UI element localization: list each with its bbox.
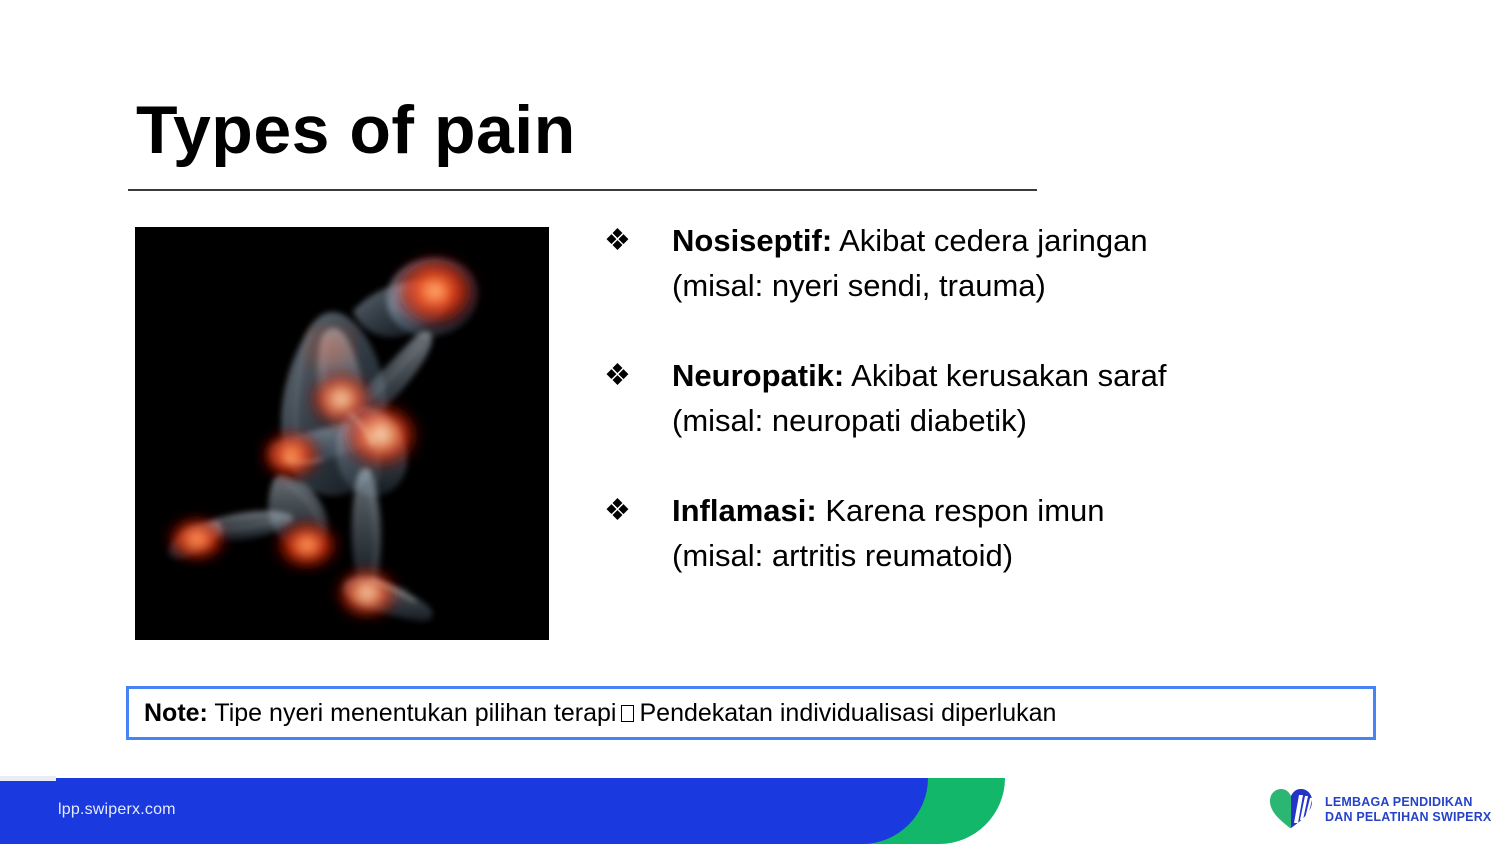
list-item-lead: Neuropatik: bbox=[672, 358, 844, 393]
note-callout-box: Note: Tipe nyeri menentukan pilihan tera… bbox=[126, 686, 1376, 740]
note-text-after: Pendekatan individualisasi diperlukan bbox=[639, 699, 1056, 727]
diamond-bullet-icon: ❖ bbox=[604, 218, 672, 264]
list-item-text: Inflamasi: Karena respon imun(misal: art… bbox=[672, 488, 1304, 578]
footer-url: lpp.swiperx.com bbox=[58, 800, 176, 820]
list-item: ❖ Neuropatik: Akibat kerusakan saraf(mis… bbox=[604, 353, 1304, 443]
anatomy-pain-image bbox=[135, 227, 549, 640]
list-item-text: Neuropatik: Akibat kerusakan saraf(misal… bbox=[672, 353, 1304, 443]
page-title: Types of pain bbox=[136, 96, 576, 164]
anatomy-illustration bbox=[135, 227, 549, 640]
logo-line-1: LEMBAGA PENDIDIKAN bbox=[1325, 795, 1473, 809]
list-item-text: Nosiseptif: Akibat cedera jaringan(misal… bbox=[672, 218, 1304, 308]
footer-accent-strip bbox=[0, 776, 56, 781]
note-text: Note: Tipe nyeri menentukan pilihan tera… bbox=[129, 698, 1056, 728]
list-item-line2: (misal: nyeri sendi, trauma) bbox=[672, 268, 1046, 303]
note-label: Note: bbox=[144, 699, 208, 727]
list-item-line1: Akibat kerusakan saraf bbox=[844, 358, 1166, 393]
list-item-line1: Karena respon imun bbox=[817, 493, 1105, 528]
logo-line-2: DAN PELATIHAN SWIPERX bbox=[1325, 810, 1491, 824]
list-item-lead: Inflamasi: bbox=[672, 493, 817, 528]
slide: Types of pain bbox=[0, 0, 1500, 844]
list-item-line1: Akibat cedera jaringan bbox=[832, 223, 1147, 258]
heart-swoosh-icon bbox=[1268, 786, 1316, 835]
list-item-lead: Nosiseptif: bbox=[672, 223, 832, 258]
diamond-bullet-icon: ❖ bbox=[604, 488, 672, 534]
diamond-bullet-icon: ❖ bbox=[604, 353, 672, 399]
title-divider bbox=[128, 189, 1037, 191]
pain-types-list: ❖ Nosiseptif: Akibat cedera jaringan(mis… bbox=[604, 218, 1304, 578]
list-item: ❖ Nosiseptif: Akibat cedera jaringan(mis… bbox=[604, 218, 1304, 308]
logo-text: LEMBAGA PENDIDIKAN DAN PELATIHAN SWIPERX bbox=[1325, 795, 1491, 825]
list-item: ❖ Inflamasi: Karena respon imun(misal: a… bbox=[604, 488, 1304, 578]
list-item-line2: (misal: neuropati diabetik) bbox=[672, 403, 1027, 438]
list-item-line2: (misal: artritis reumatoid) bbox=[672, 538, 1013, 573]
note-text-before: Tipe nyeri menentukan pilihan terapi bbox=[208, 699, 617, 727]
swiperx-logo: LEMBAGA PENDIDIKAN DAN PELATIHAN SWIPERX bbox=[1268, 786, 1478, 834]
missing-glyph-icon bbox=[621, 705, 634, 722]
